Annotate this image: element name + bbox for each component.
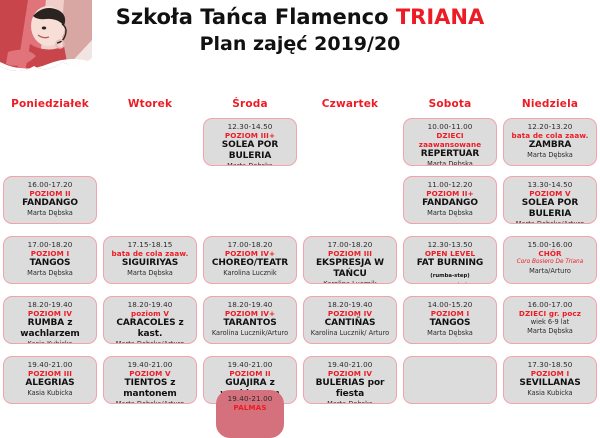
class-level: POZIOM II+: [406, 189, 494, 198]
day-column: 12.20-13.20bata de cola zaaw.ZAMBRAMarta…: [500, 112, 600, 403]
class-teacher: Marta Dębska/Arturo: [106, 400, 194, 404]
day-header-thursday: Czwartek: [300, 92, 400, 111]
day-header-tuesday: Wtorek: [100, 92, 200, 111]
class-card[interactable]: 10.00-11.00DZIECI zaawansowaneREPERTUARM…: [403, 118, 497, 166]
class-card[interactable]: 18.20-19.40POZIOM IV+TARANTOSKarolina Lu…: [203, 296, 297, 344]
class-name: CHOREO/TEATR: [206, 258, 294, 269]
class-teacher: Marta Dębska: [506, 151, 594, 160]
class-name: ALEGRIAS: [6, 378, 94, 389]
class-time: 19.40-21.00: [219, 394, 281, 403]
day-label: Wtorek: [128, 98, 172, 110]
class-time: 16.00-17.20: [6, 180, 94, 189]
class-name: ZAMBRA: [506, 140, 594, 151]
day-label: Sobota: [429, 98, 472, 110]
class-card[interactable]: 18.20-19.40POZIOM IVRUMBA z wachlarzemKa…: [3, 296, 97, 344]
class-name-note: (rumba-step): [430, 273, 469, 279]
class-teacher: Marta Dębska: [406, 160, 494, 166]
class-teacher: Karolina Lucznik: [306, 280, 394, 284]
brand-name: TRIANA: [396, 5, 484, 29]
class-teacher: Marta Dębska: [306, 400, 394, 404]
day-label: Niedziela: [522, 98, 578, 110]
class-card-empty[interactable]: [403, 356, 497, 404]
class-card[interactable]: 19.40-21.00POZIOM IVBULERIAS por fiestaM…: [303, 356, 397, 404]
class-time: 10.00-11.00: [406, 122, 494, 131]
class-level: POZIOM V: [506, 189, 594, 198]
class-teacher: Kasia Kubicka: [506, 389, 594, 398]
class-time: 19.40-21.00: [6, 360, 94, 369]
class-card[interactable]: 12.30-14.50POZIOM III+SOLEA POR BULERIAM…: [203, 118, 297, 166]
class-name: RUMBA z wachlarzem: [6, 318, 94, 340]
class-name: CARACOLES z kast.: [106, 318, 194, 340]
class-name: REPERTUAR: [406, 149, 494, 160]
class-card[interactable]: 17.00-18.20POZIOM ITANGOSMarta Dębska: [3, 236, 97, 284]
day-column: 17.00-18.20POZIOM IIIEKSPRESJA W TAŃCUKa…: [300, 112, 400, 403]
class-card[interactable]: 18.20-19.40POZIOM IVCANTIÑASKarolina Luc…: [303, 296, 397, 344]
class-teacher: Marta Dębska: [406, 209, 494, 218]
class-name: EKSPRESJA W TAŃCU: [306, 258, 394, 280]
day-label: Czwartek: [322, 98, 379, 110]
page-header: Szkoła Tańca Flamenco TRIANA Plan zajęć …: [0, 4, 600, 56]
class-level: POZIOM II: [206, 369, 294, 378]
class-time: 18.20-19.40: [106, 300, 194, 309]
class-time: 19.40-21.00: [306, 360, 394, 369]
class-teacher: Marta Dębska: [206, 162, 294, 166]
schedule-page: Szkoła Tańca Flamenco TRIANA Plan zajęć …: [0, 0, 600, 403]
class-teacher: Karolina Lucznik: [206, 269, 294, 278]
class-name: CANTIÑAS: [306, 318, 394, 329]
class-level: DZIECI zaawansowane: [406, 131, 494, 149]
class-card[interactable]: 17.30-18.50POZIOM ISEVILLANASKasia Kubic…: [503, 356, 597, 404]
class-level: poziom V: [106, 309, 194, 318]
class-card[interactable]: 16.00-17.00DZIECI gr. poczwiek 6-9 latMa…: [503, 296, 597, 344]
day-column: 12.30-14.50POZIOM III+SOLEA POR BULERIAM…: [200, 112, 300, 403]
class-sublabel: wiek 6-9 lat: [506, 318, 594, 327]
class-time: 16.00-17.00: [506, 300, 594, 309]
class-name: FANDANGO: [406, 198, 494, 209]
class-level: POZIOM IV+: [206, 309, 294, 318]
class-time: 17.15-18.15: [106, 240, 194, 249]
class-level: POZIOM IV: [306, 369, 394, 378]
class-name: BULERIAS por fiesta: [306, 378, 394, 400]
class-sublabel: Coro Bosiero De Triana: [506, 258, 594, 267]
class-card[interactable]: 14.00-15.20POZIOM ITANGOSMarta Dębska: [403, 296, 497, 344]
class-time: 19.40-21.00: [206, 360, 294, 369]
class-level: POZIOM II: [6, 189, 94, 198]
class-teacher: Marta Dębska/Arturo: [106, 340, 194, 344]
class-time: 14.00-15.20: [406, 300, 494, 309]
class-teacher: Kasia Kubicka: [6, 389, 94, 398]
class-card[interactable]: 12.20-13.20bata de cola zaaw.ZAMBRAMarta…: [503, 118, 597, 166]
class-name: FAT BURNING (rumba-step): [406, 258, 494, 282]
class-time: 17.00-18.20: [6, 240, 94, 249]
class-teacher: Marta Dębska: [406, 329, 494, 338]
class-level: bata de cola zaaw.: [506, 131, 594, 140]
class-level: POZIOM I: [506, 369, 594, 378]
class-teacher: Marta Dębska: [406, 282, 494, 284]
class-teacher: Kasia Kubicka: [6, 340, 94, 344]
class-time: 13.30-14.50: [506, 180, 594, 189]
class-name: TANGOS: [6, 258, 94, 269]
class-card[interactable]: 12.30-13.50OPEN LEVELFAT BURNING (rumba-…: [403, 236, 497, 284]
class-name: SEVILLANAS: [506, 378, 594, 389]
class-card[interactable]: 19.40-21.00POZIOM IIIALEGRIASKasia Kubic…: [3, 356, 97, 404]
class-time: 12.20-13.20: [506, 122, 594, 131]
class-level: POZIOM I: [6, 249, 94, 258]
schedule-grid: 16.00-17.20POZIOM IIFANDANGOMarta Dębska…: [0, 112, 600, 403]
class-time: 17.00-18.20: [306, 240, 394, 249]
class-level: OPEN LEVEL: [406, 249, 494, 258]
class-time: 17.30-18.50: [506, 360, 594, 369]
class-time: 19.40-21.00: [106, 360, 194, 369]
class-name: TIENTOS z mantonem: [106, 378, 194, 400]
day-header-saturday: Sobota: [400, 92, 500, 111]
class-level: bata de cola zaaw.: [106, 249, 194, 258]
class-card[interactable]: 19.40-21.00POZIOM VTIENTOS z mantonemMar…: [103, 356, 197, 404]
class-card[interactable]: 19.40-21.00PALMAS: [216, 390, 284, 438]
class-name: SOLEA POR BULERIA: [206, 140, 294, 162]
class-card[interactable]: 17.15-18.15bata de cola zaaw.SIGUIRIYASM…: [103, 236, 197, 284]
class-teacher: Marta Dębska: [106, 269, 194, 278]
class-card[interactable]: 15.00-16.00CHÓRCoro Bosiero De TrianaMar…: [503, 236, 597, 284]
class-level: POZIOM IV: [306, 309, 394, 318]
class-time: 11.00-12.20: [406, 180, 494, 189]
class-teacher: Marta Dębska: [6, 269, 94, 278]
day-header-wednesday: Środa: [200, 92, 300, 111]
class-level: CHÓR: [506, 249, 594, 258]
class-name: SOLEA POR BULERIA: [506, 198, 594, 220]
class-teacher: Karolina Lucznik/ Arturo: [306, 329, 394, 338]
class-teacher: Marta Dębska: [6, 209, 94, 218]
class-level: POZIOM IV+: [206, 249, 294, 258]
day-header-monday: Poniedziałek: [0, 92, 100, 111]
class-teacher: Marta/Arturo: [506, 267, 594, 276]
title-main-text: Szkoła Tańca Flamenco: [116, 5, 396, 29]
page-subtitle: Plan zajęć 2019/20: [0, 32, 600, 56]
day-label: Poniedziałek: [11, 98, 89, 110]
class-level: POZIOM III: [6, 369, 94, 378]
day-header-row: Poniedziałek Wtorek Środa Czwartek Sobot…: [0, 92, 600, 111]
class-time: 15.00-16.00: [506, 240, 594, 249]
class-teacher: Marta Dębska: [506, 327, 594, 336]
class-card[interactable]: 11.00-12.20POZIOM II+FANDANGOMarta Dębsk…: [403, 176, 497, 224]
class-level: POZIOM IV: [6, 309, 94, 318]
day-label: Środa: [232, 98, 268, 110]
class-level: POZIOM III+: [206, 131, 294, 140]
class-level: POZIOM V: [106, 369, 194, 378]
day-column: 16.00-17.20POZIOM IIFANDANGOMarta Dębska…: [0, 112, 100, 403]
class-time: 18.20-19.40: [6, 300, 94, 309]
class-time: 12.30-14.50: [206, 122, 294, 131]
class-card[interactable]: 13.30-14.50POZIOM VSOLEA POR BULERIAMart…: [503, 176, 597, 224]
class-level: POZIOM III: [306, 249, 394, 258]
class-name: SIGUIRIYAS: [106, 258, 194, 269]
class-card[interactable]: 18.20-19.40poziom VCARACOLES z kast.Mart…: [103, 296, 197, 344]
class-level: POZIOM I: [406, 309, 494, 318]
class-time: 17.00-18.20: [206, 240, 294, 249]
class-name: TANGOS: [406, 318, 494, 329]
class-time: 18.20-19.40: [206, 300, 294, 309]
day-column: 10.00-11.00DZIECI zaawansowaneREPERTUARM…: [400, 112, 500, 403]
class-level: PALMAS: [219, 403, 281, 412]
class-time: 12.30-13.50: [406, 240, 494, 249]
class-card[interactable]: 17.00-18.20POZIOM IV+CHOREO/TEATRKarolin…: [203, 236, 297, 284]
day-header-sunday: Niedziela: [500, 92, 600, 111]
day-column: 17.15-18.15bata de cola zaaw.SIGUIRIYASM…: [100, 112, 200, 403]
class-level: DZIECI gr. pocz: [506, 309, 594, 318]
class-name: TARANTOS: [206, 318, 294, 329]
class-card[interactable]: 16.00-17.20POZIOM IIFANDANGOMarta Dębska: [3, 176, 97, 224]
class-card[interactable]: 17.00-18.20POZIOM IIIEKSPRESJA W TAŃCUKa…: [303, 236, 397, 284]
page-title: Szkoła Tańca Flamenco TRIANA: [0, 4, 600, 30]
class-time: 18.20-19.40: [306, 300, 394, 309]
class-teacher: Marta Dębska/Arturo: [506, 220, 594, 224]
class-teacher: Karolina Lucznik/Arturo: [206, 329, 294, 338]
class-name: FANDANGO: [6, 198, 94, 209]
